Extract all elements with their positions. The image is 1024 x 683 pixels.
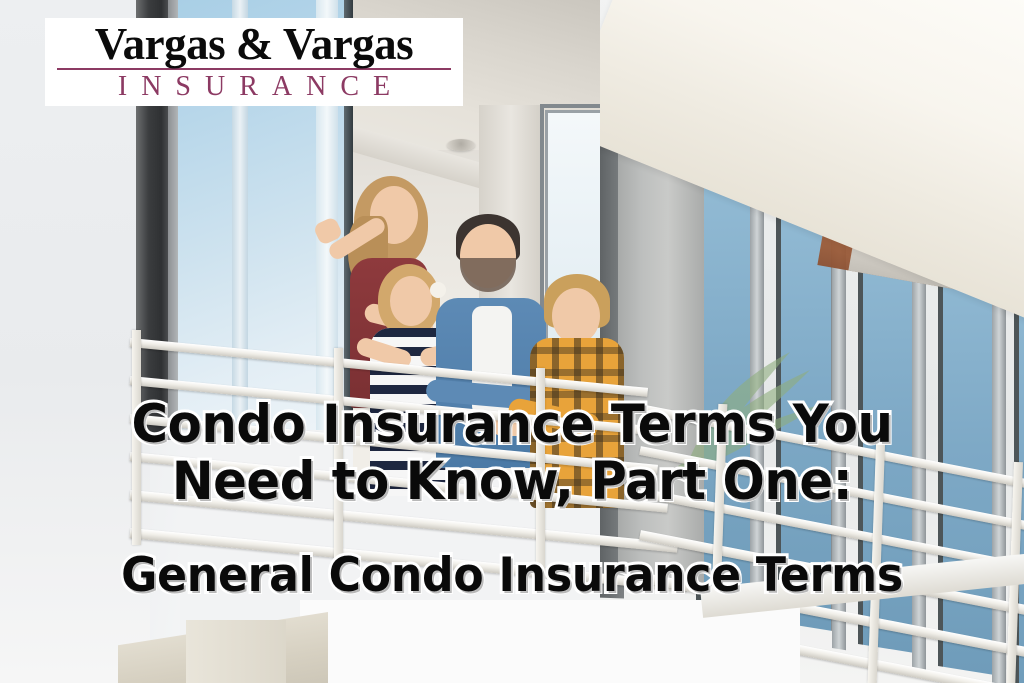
logo-company-name: Vargas & Vargas — [57, 21, 451, 70]
rail-post-2 — [334, 348, 343, 563]
rail-bar-r1 — [639, 404, 1024, 489]
vargas-insurance-logo[interactable]: Vargas & Vargas INSURANCE — [45, 18, 463, 106]
logo-subtitle: INSURANCE — [57, 72, 451, 102]
rail-bar-r2 — [639, 446, 1024, 531]
rail-post-3 — [536, 368, 545, 583]
rail-post-r2 — [868, 434, 886, 683]
banner-image: Vargas & Vargas INSURANCE Condo Insuranc… — [0, 0, 1024, 683]
rail-post-1 — [132, 330, 141, 545]
concrete-wall-block-face — [186, 620, 286, 683]
